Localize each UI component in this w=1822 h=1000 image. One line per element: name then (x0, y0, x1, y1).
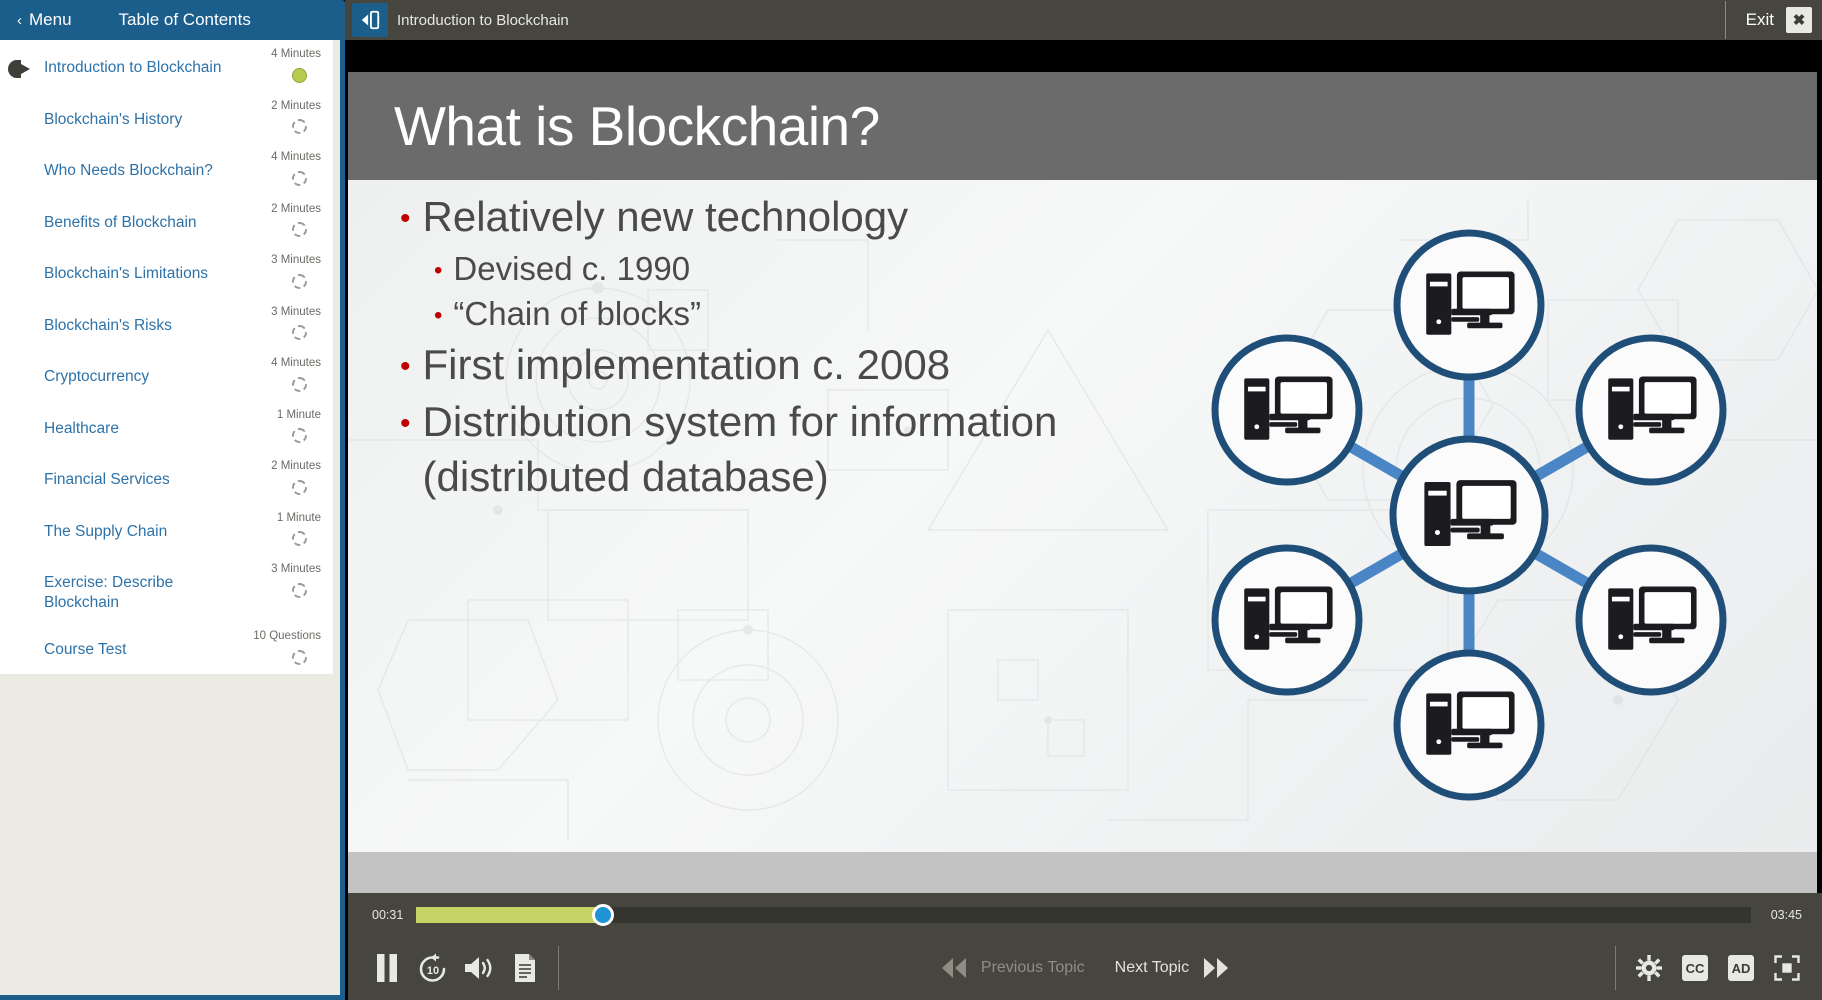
cc-label: CC (1682, 955, 1708, 981)
menu-label: Menu (29, 10, 72, 30)
slide-bullet-text: Relatively new technology (423, 190, 1120, 245)
bullet-dot-icon: • (434, 292, 442, 328)
toc-item-duration: 3 Minutes (271, 564, 321, 576)
ad-label: AD (1728, 955, 1754, 981)
collapse-panel-icon (359, 9, 381, 31)
toc-item-marker (0, 564, 44, 575)
toc-item-marker (0, 461, 44, 472)
slide-bullet-list: •Relatively new technology•Devised c. 19… (400, 190, 1120, 506)
toc-item[interactable]: Exercise: Describe Blockchain3 Minutes (0, 555, 333, 622)
scrubber-row: 00:31 03:45 (348, 893, 1822, 936)
next-topic-button[interactable]: Next Topic (1115, 957, 1231, 979)
toc-item-meta: 4 Minutes (237, 49, 333, 83)
toc-item-marker (0, 255, 44, 266)
toc-item-marker (0, 49, 44, 78)
toc-item-meta: 1 Minute (237, 410, 333, 444)
toc-item-meta: 10 Questions (237, 631, 333, 665)
button-row: 10 (348, 936, 1822, 1000)
bullet-dot-icon: • (434, 247, 442, 283)
toc-item[interactable]: Financial Services2 Minutes (0, 452, 333, 504)
toc-item-meta: 2 Minutes (237, 204, 333, 238)
network-node (1397, 233, 1541, 377)
slide-bullet: •Distribution system for information (di… (400, 395, 1120, 504)
toc-item-status-indicator (292, 583, 307, 598)
previous-topic-button[interactable]: Previous Topic (939, 957, 1085, 979)
toc-item-marker (0, 410, 44, 421)
toc-item[interactable]: Blockchain's History2 Minutes (0, 92, 333, 144)
toc-item-label: Exercise: Describe Blockchain (44, 564, 237, 613)
pause-button[interactable] (364, 945, 410, 991)
chevron-left-icon: ‹ (17, 13, 22, 28)
toc-item-label: Cryptocurrency (44, 358, 237, 387)
toc-item-label: Benefits of Blockchain (44, 204, 237, 233)
toc-item-label: Introduction to Blockchain (44, 49, 237, 78)
toc-item-duration: 10 Questions (253, 631, 321, 643)
player-options: CC AD (1605, 945, 1810, 991)
toc-item[interactable]: Blockchain's Risks3 Minutes (0, 298, 333, 350)
toc-item-duration: 4 Minutes (271, 358, 321, 370)
transcript-button[interactable] (502, 945, 548, 991)
table-of-contents-title: Table of Contents (119, 10, 251, 30)
slide-bullet: •Devised c. 1990 (434, 247, 1120, 291)
toolbar-divider (1725, 1, 1726, 39)
controls-divider (558, 946, 559, 990)
toc-item-label: Healthcare (44, 410, 237, 439)
toc-item-status-indicator (292, 222, 307, 237)
options-divider (1615, 946, 1616, 990)
rewind-double-arrow-icon (939, 957, 969, 979)
toc-item-duration: 2 Minutes (271, 204, 321, 216)
slide-title: What is Blockchain? (394, 94, 880, 158)
toc-item-status-indicator (292, 650, 307, 665)
toc-item[interactable]: Who Needs Blockchain?4 Minutes (0, 143, 333, 195)
toc-item-duration: 1 Minute (277, 410, 321, 422)
playback-controls: 10 (364, 945, 569, 991)
toc-item-status-indicator (292, 480, 307, 495)
toc-item-meta: 4 Minutes (237, 358, 333, 392)
sidebar-header: ‹ Menu Table of Contents (0, 0, 345, 40)
forward-double-arrow-icon (1201, 957, 1231, 979)
course-player-window: Introduction to Blockchain Exit ✖ ‹ Menu… (0, 0, 1822, 1000)
bullet-dot-icon: • (400, 338, 411, 382)
table-of-contents-sidebar: Introduction to Blockchain4 MinutesBlock… (0, 40, 345, 1000)
toc-item-meta: 3 Minutes (237, 307, 333, 341)
network-node (1215, 338, 1359, 482)
close-button[interactable]: ✖ (1786, 7, 1812, 33)
toc-item-status-indicator (292, 68, 307, 83)
slide-bullet-text: Devised c. 1990 (453, 247, 1120, 291)
rewind-amount-label: 10 (427, 965, 439, 977)
seek-bar[interactable] (416, 907, 1751, 923)
toc-item-meta: 2 Minutes (237, 461, 333, 495)
toc-item-marker (0, 152, 44, 163)
toc-item-duration: 3 Minutes (271, 255, 321, 267)
toc-item-status-indicator (292, 171, 307, 186)
toc-item-meta: 4 Minutes (237, 152, 333, 186)
toc-item-meta: 3 Minutes (237, 255, 333, 289)
slide-canvas: What is Blockchain? (348, 72, 1817, 852)
network-node (1579, 338, 1723, 482)
fullscreen-button[interactable] (1764, 945, 1810, 991)
toc-item-status-indicator (292, 119, 307, 134)
slide-body: •Relatively new technology•Devised c. 19… (348, 180, 1817, 852)
toc-item[interactable]: Benefits of Blockchain2 Minutes (0, 195, 333, 247)
network-node (1579, 548, 1723, 692)
fullscreen-icon (1774, 955, 1800, 981)
toc-item-status-indicator (292, 274, 307, 289)
pause-icon (374, 953, 400, 983)
toc-item-label: Course Test (44, 631, 237, 660)
toc-item-status-indicator (292, 531, 307, 546)
player-toolbar: Introduction to Blockchain Exit ✖ (345, 0, 1822, 40)
toc-item-status-indicator (292, 377, 307, 392)
slide-bullet: •“Chain of blocks” (434, 292, 1120, 336)
toc-item[interactable]: Course Test10 Questions (0, 622, 333, 674)
network-node (1215, 548, 1359, 692)
toc-item-duration: 4 Minutes (271, 49, 321, 61)
toc-item-marker (0, 631, 44, 642)
current-topic-icon (14, 60, 30, 78)
toc-item-duration: 1 Minute (277, 513, 321, 525)
toc-item-marker (0, 513, 44, 524)
toc-item-label: The Supply Chain (44, 513, 237, 542)
toc-item-status-indicator (292, 428, 307, 443)
toc-item-label: Who Needs Blockchain? (44, 152, 237, 181)
toc-item-label: Blockchain's History (44, 101, 237, 130)
toc-item-duration: 2 Minutes (271, 101, 321, 113)
previous-topic-label: Previous Topic (981, 959, 1085, 977)
toc-item-label: Blockchain's Risks (44, 307, 237, 336)
slide-header: What is Blockchain? (348, 72, 1817, 180)
toc-item[interactable]: Blockchain's Limitations3 Minutes (0, 246, 333, 298)
toc-item-status-indicator (292, 325, 307, 340)
slide-stage: What is Blockchain? (345, 40, 1822, 1000)
transcript-icon (512, 953, 538, 983)
seek-bar-fill (416, 907, 603, 923)
player-controls: 00:31 03:45 (348, 893, 1822, 1000)
volume-button[interactable] (456, 945, 502, 991)
exit-button[interactable]: Exit (1746, 10, 1774, 30)
toc-item-label: Blockchain's Limitations (44, 255, 237, 284)
next-topic-label: Next Topic (1115, 959, 1189, 977)
rewind-10-button[interactable]: 10 (410, 945, 456, 991)
closed-captions-button[interactable]: CC (1672, 945, 1718, 991)
slide-bullet-text: Distribution system for information (dis… (423, 395, 1120, 504)
slide-bullet-text: “Chain of blocks” (453, 292, 1120, 336)
total-time: 03:45 (1771, 908, 1802, 922)
topic-navigation: Previous Topic Next Topic (348, 957, 1822, 979)
toc-item-label: Financial Services (44, 461, 237, 490)
settings-button[interactable] (1626, 945, 1672, 991)
toc-item-marker (0, 307, 44, 318)
toc-item[interactable]: The Supply Chain1 Minute (0, 504, 333, 556)
collapse-sidebar-button[interactable] (352, 3, 388, 37)
toc-item-duration: 4 Minutes (271, 152, 321, 164)
toc-item-duration: 3 Minutes (271, 307, 321, 319)
network-node (1397, 653, 1541, 797)
toc-item-meta: 2 Minutes (237, 101, 333, 135)
toc-item[interactable]: Introduction to Blockchain4 Minutes (0, 40, 333, 92)
audio-description-button[interactable]: AD (1718, 945, 1764, 991)
blockchain-network-diagram (1139, 210, 1799, 820)
toc-item-meta: 3 Minutes (237, 564, 333, 598)
toc-item-marker (0, 358, 44, 369)
toc-item[interactable]: Cryptocurrency4 Minutes (0, 349, 333, 401)
slide-bullet: •First implementation c. 2008 (400, 338, 1120, 393)
slide-bullet: •Relatively new technology (400, 190, 1120, 245)
toc-item-duration: 2 Minutes (271, 461, 321, 473)
gear-icon (1636, 955, 1662, 981)
table-of-contents-list[interactable]: Introduction to Blockchain4 MinutesBlock… (0, 40, 333, 674)
toc-item-marker (0, 204, 44, 215)
network-node-center (1393, 439, 1545, 591)
bullet-dot-icon: • (400, 395, 411, 439)
volume-icon (463, 955, 495, 981)
toc-item-meta: 1 Minute (237, 513, 333, 547)
current-time: 00:31 (372, 908, 416, 922)
toc-item[interactable]: Healthcare1 Minute (0, 401, 333, 453)
rewind-10-icon: 10 (417, 952, 449, 984)
close-icon: ✖ (1793, 13, 1806, 28)
toc-item-marker (0, 101, 44, 112)
lesson-title: Introduction to Blockchain (397, 12, 569, 29)
seek-bar-handle[interactable] (592, 904, 614, 926)
menu-button[interactable]: ‹ Menu (17, 10, 72, 30)
slide-bullet-text: First implementation c. 2008 (423, 338, 1120, 393)
bullet-dot-icon: • (400, 190, 411, 234)
